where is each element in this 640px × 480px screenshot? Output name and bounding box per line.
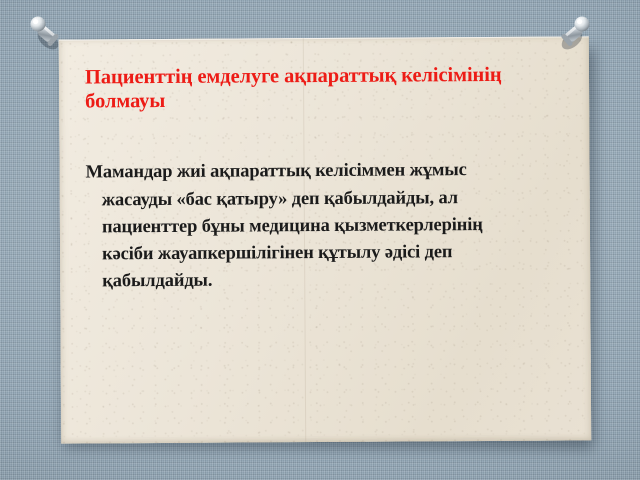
thumbtack-right-glyph	[552, 12, 596, 56]
thumbtack-left-glyph	[24, 12, 68, 56]
body-block: Мамандар жиі ақпараттық келісіммен жұмыс…	[86, 157, 569, 296]
body-paragraph: Мамандар жиі ақпараттық келісіммен жұмыс…	[86, 157, 503, 295]
pinned-paper-sheet: Пациенттің емделуге ақпараттық келісімін…	[59, 36, 591, 443]
thumbtack-right-icon	[552, 12, 596, 56]
thumbtack-left-icon	[24, 12, 68, 56]
slide-canvas: Пациенттің емделуге ақпараттық келісімін…	[0, 0, 640, 480]
slide-content: Пациенттің емделуге ақпараттық келісімін…	[59, 36, 591, 443]
page-title: Пациенттің емделуге ақпараттық келісімін…	[85, 63, 555, 114]
